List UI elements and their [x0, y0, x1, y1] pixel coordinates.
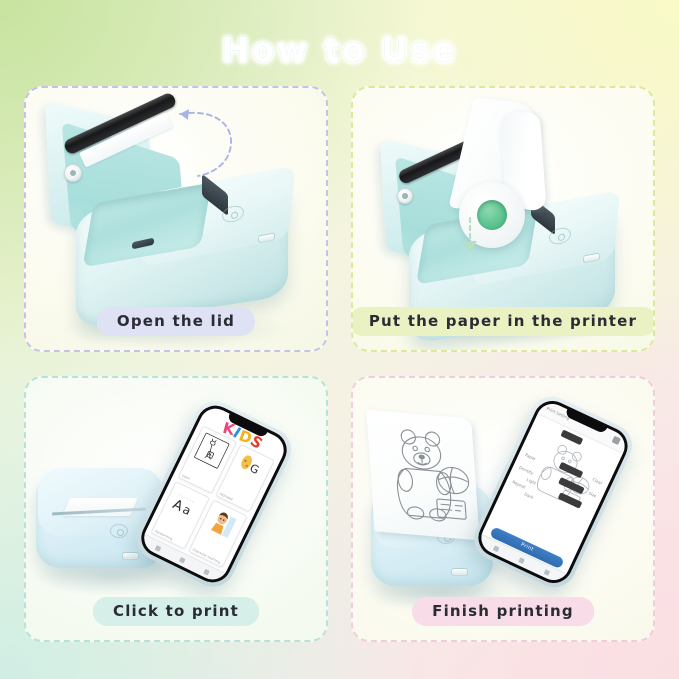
roller-gear-icon [397, 188, 413, 204]
toolbar-icon-grid[interactable] [179, 557, 186, 564]
step-2-caption: Put the paper in the printer [351, 307, 655, 336]
kid-character-icon [201, 503, 244, 546]
open-lid-arrow-icon [164, 104, 254, 184]
letter-aa-icon: A a [163, 485, 206, 528]
step-panel-4: Print Setting [351, 376, 655, 642]
power-button[interactable] [110, 524, 128, 538]
toolbar-icon-back[interactable] [203, 569, 210, 576]
page-title: How to Use [0, 30, 679, 69]
step-panel-1: Open the lid [24, 86, 328, 352]
usb-port [122, 552, 139, 560]
teddy-bear-printout-icon [373, 418, 475, 532]
paper-roll-core [477, 200, 507, 230]
phone-screen: KIDS [135, 399, 293, 588]
step-panel-3: KIDS [24, 376, 328, 642]
step-panel-2: Put the paper in the printer [351, 86, 655, 352]
phone-screen: Print Setting [472, 395, 634, 590]
toolbar-icon-back[interactable] [493, 545, 500, 552]
step-3-caption: Click to print [93, 597, 259, 626]
toolbar-icon-recents[interactable] [544, 569, 551, 576]
kids-card-caption: Learn [181, 473, 191, 481]
step-4-caption: Finish printing [412, 597, 594, 626]
insert-paper-arrow-icon [459, 216, 481, 256]
setting-label: Dark [524, 491, 535, 500]
usb-port [451, 568, 468, 576]
how-to-use-infographic: How to Use Open t [0, 0, 679, 679]
toolbar-icon-home[interactable] [155, 545, 162, 552]
toolbar-icon-home[interactable] [518, 557, 525, 564]
roller-gear-icon [64, 164, 82, 182]
kids-card-caption: Alphabet [219, 492, 234, 502]
step-1-caption: Open the lid [97, 307, 255, 336]
